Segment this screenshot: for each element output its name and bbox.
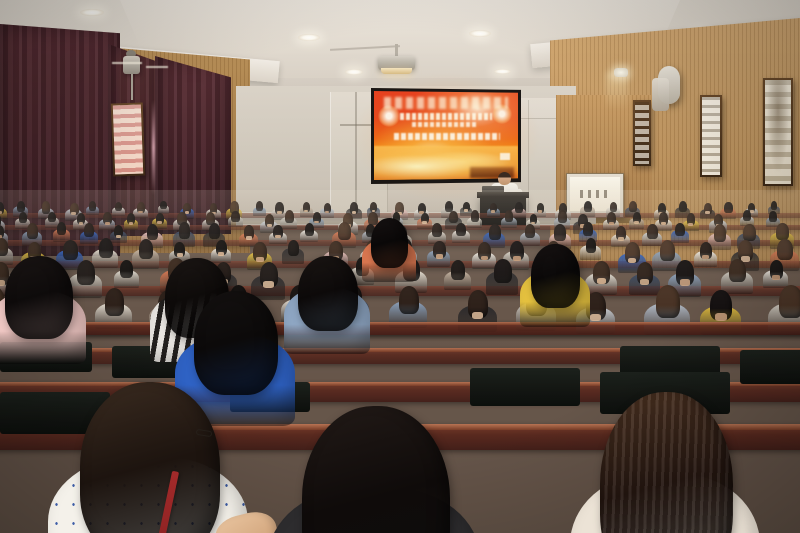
audience-member-hair xyxy=(147,224,159,240)
audience-member-neck xyxy=(129,222,133,225)
foreground-hair xyxy=(194,291,278,395)
audience-member-hair xyxy=(399,286,419,314)
audience-member-neck xyxy=(715,313,727,321)
foreground-hair xyxy=(5,256,72,339)
ceiling-downlight xyxy=(494,69,511,74)
audience-member-hair xyxy=(743,224,755,241)
audience-member-hair xyxy=(584,201,592,212)
audience-member-hair xyxy=(629,201,637,212)
framed-poster-left xyxy=(111,102,146,176)
audience-member xyxy=(444,260,474,291)
audience-member-hair xyxy=(471,210,479,222)
wall-speaker-right-secondary xyxy=(652,78,669,111)
audience-member-hair xyxy=(256,201,263,211)
audience-member-hair xyxy=(554,224,566,240)
audience-member-hair xyxy=(105,288,125,315)
wall-sconce-icon xyxy=(614,68,628,77)
slide-body-line xyxy=(412,122,478,127)
audience-member-hair xyxy=(505,210,514,222)
slide-title-text xyxy=(384,97,508,109)
artwork-surface xyxy=(765,80,791,184)
audience-member-neck xyxy=(116,235,121,238)
lecture-hall-photograph: Lecture hall audience attending a presen… xyxy=(0,0,800,533)
audience-member-hair xyxy=(769,211,776,221)
audience-member-hair xyxy=(729,259,746,282)
audience-member-hair xyxy=(647,224,658,239)
audience-member-neck xyxy=(105,222,110,225)
audience-member-hair xyxy=(48,212,56,223)
foreground-hair xyxy=(298,256,358,331)
audience-member-hair xyxy=(288,240,300,256)
audience-member-hair xyxy=(771,201,777,210)
audience-member-hair xyxy=(115,202,122,212)
audience-member-hair xyxy=(525,224,535,238)
audience-member-foreground xyxy=(284,256,370,350)
audience-member xyxy=(487,203,502,218)
audience-member-foreground xyxy=(520,244,590,324)
foreground-hair xyxy=(531,244,580,308)
audience-member-hair xyxy=(656,285,680,319)
ceiling-downlight xyxy=(469,30,491,37)
audience-member-hair xyxy=(209,223,221,239)
audience-member-neck xyxy=(609,222,614,225)
ceiling-downlight xyxy=(345,69,363,75)
audience-member-hair xyxy=(494,259,511,283)
audience-member-hair xyxy=(714,224,727,242)
framed-scroll-right-far xyxy=(763,78,793,186)
seat-cushion xyxy=(470,368,580,406)
audience-member-hair xyxy=(776,223,788,240)
audience-member-neck xyxy=(590,314,602,321)
artwork-surface xyxy=(635,102,649,164)
foreground-hair xyxy=(371,218,409,268)
audience-member-neck xyxy=(263,281,273,288)
audience-member-hair xyxy=(338,222,351,240)
audience-member-neck xyxy=(246,236,252,240)
audience-member-hair xyxy=(84,223,94,237)
audience-member-hair xyxy=(285,210,294,222)
audience-member xyxy=(452,223,472,243)
audience-member-hair xyxy=(679,201,687,212)
projector-lens-icon xyxy=(381,68,412,74)
presenter-head xyxy=(498,172,511,185)
audience-member-neck xyxy=(436,254,443,258)
audience-member-neck xyxy=(275,235,280,238)
framed-calligraphy-right-mid xyxy=(633,100,651,166)
audience-member-hair xyxy=(305,223,314,236)
foreground-hair xyxy=(302,406,450,533)
audience-member-hair xyxy=(451,260,465,280)
audience-member-hair xyxy=(432,223,442,237)
slide-subtitle-text xyxy=(400,113,492,120)
audience-member-neck xyxy=(177,253,183,257)
camera-mount-pole xyxy=(131,74,133,100)
audience-member-foreground xyxy=(0,256,86,360)
projection-screen[interactable] xyxy=(374,91,518,180)
audience-member-hair xyxy=(57,222,66,235)
audience-member-neck xyxy=(538,210,542,212)
audience-member-hair xyxy=(660,240,675,261)
audience-member-hair xyxy=(19,212,27,223)
audience-member xyxy=(114,260,142,289)
artwork-surface xyxy=(702,97,720,175)
audience-member-hair xyxy=(743,210,751,221)
audience-member-neck xyxy=(422,221,426,224)
camera-mount-left xyxy=(123,56,140,74)
audience-member-neck xyxy=(491,210,495,213)
wall-light-strip xyxy=(112,62,142,64)
audience-member-foreground xyxy=(48,382,248,533)
audience-member-neck xyxy=(472,312,483,319)
audience-seating xyxy=(0,196,800,533)
audience-member-hair xyxy=(160,201,166,210)
audience-member-hair xyxy=(558,210,567,222)
wall-light-strip xyxy=(146,66,168,68)
audience-member-hair xyxy=(139,239,153,259)
audience-member-hair xyxy=(0,238,8,256)
foreground-hair xyxy=(600,392,733,533)
audience-member-hair xyxy=(779,285,800,318)
audience-member-foreground xyxy=(268,406,480,533)
audience-member-neck xyxy=(218,252,224,256)
audience-member-hair xyxy=(99,238,113,258)
bench-desk-edge xyxy=(0,322,800,325)
audience-member-neck xyxy=(618,237,624,241)
audience-member-neck xyxy=(634,221,638,224)
audience-member-hair xyxy=(675,223,685,236)
audience-member-neck xyxy=(772,275,779,280)
audience-member-hair xyxy=(89,201,96,211)
slide-body-line xyxy=(394,133,500,140)
foreground-hair xyxy=(80,382,220,533)
window-light-gap xyxy=(152,100,155,195)
audience-member-hair xyxy=(27,223,38,238)
audience-member-hair xyxy=(456,223,466,236)
artwork-surface xyxy=(113,105,143,175)
audience-member-hair xyxy=(17,201,25,212)
audience-member-hair xyxy=(724,202,732,214)
audience-member-hair xyxy=(610,202,617,212)
audience-member-foreground xyxy=(570,392,760,533)
audience-member-hair xyxy=(231,211,239,222)
audience-member-hair xyxy=(449,211,458,223)
audience-member-hair xyxy=(583,222,593,235)
audience-member-neck xyxy=(597,278,606,284)
audience-member-neck xyxy=(702,255,709,259)
audience-member-hair xyxy=(777,239,792,260)
ceiling-downlight xyxy=(298,34,320,41)
audience-member-hair xyxy=(179,222,191,238)
slide-badge xyxy=(500,153,510,160)
audience-member-foreground xyxy=(362,218,416,280)
wall-sconce-glow xyxy=(606,72,628,110)
seat-cushion xyxy=(740,350,800,384)
ceiling-downlight xyxy=(80,9,104,16)
framed-calligraphy-right-near xyxy=(700,95,722,177)
audience-member-hair xyxy=(120,260,133,279)
audience-member-hair xyxy=(489,224,501,240)
